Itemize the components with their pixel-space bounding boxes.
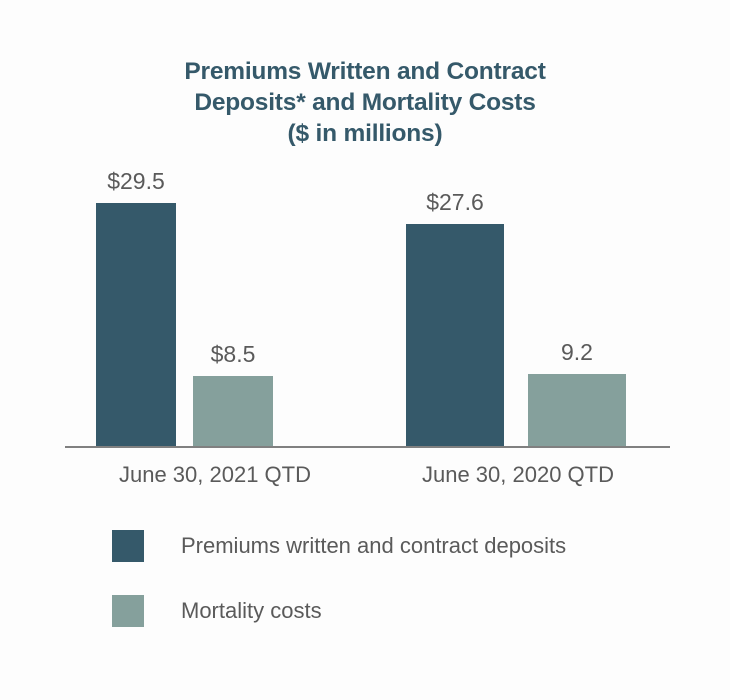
chart-legend: Premiums written and contract deposits M… xyxy=(112,530,566,660)
bar-mortality-2021[interactable] xyxy=(193,376,273,447)
legend-swatch-icon xyxy=(112,530,144,562)
bar-value-label: $27.6 xyxy=(406,189,504,215)
legend-item-label: Premiums written and contract deposits xyxy=(181,533,566,559)
legend-item-label: Mortality costs xyxy=(181,598,322,624)
legend-item-premiums[interactable]: Premiums written and contract deposits xyxy=(112,530,566,562)
bar-premiums-2021[interactable] xyxy=(96,203,176,447)
bar-chart: Premiums Written and Contract Deposits* … xyxy=(0,0,730,700)
bar-value-label: $8.5 xyxy=(193,341,273,367)
legend-swatch-icon xyxy=(112,595,144,627)
category-label-2021: June 30, 2021 QTD xyxy=(65,462,365,488)
bar-premiums-2020[interactable] xyxy=(406,224,504,447)
category-label-2020: June 30, 2020 QTD xyxy=(366,462,670,488)
x-axis-line xyxy=(65,446,670,448)
bar-value-label: $29.5 xyxy=(96,168,176,194)
bar-mortality-2020[interactable] xyxy=(528,374,626,447)
bar-value-label: 9.2 xyxy=(528,339,626,365)
legend-item-mortality[interactable]: Mortality costs xyxy=(112,595,566,627)
